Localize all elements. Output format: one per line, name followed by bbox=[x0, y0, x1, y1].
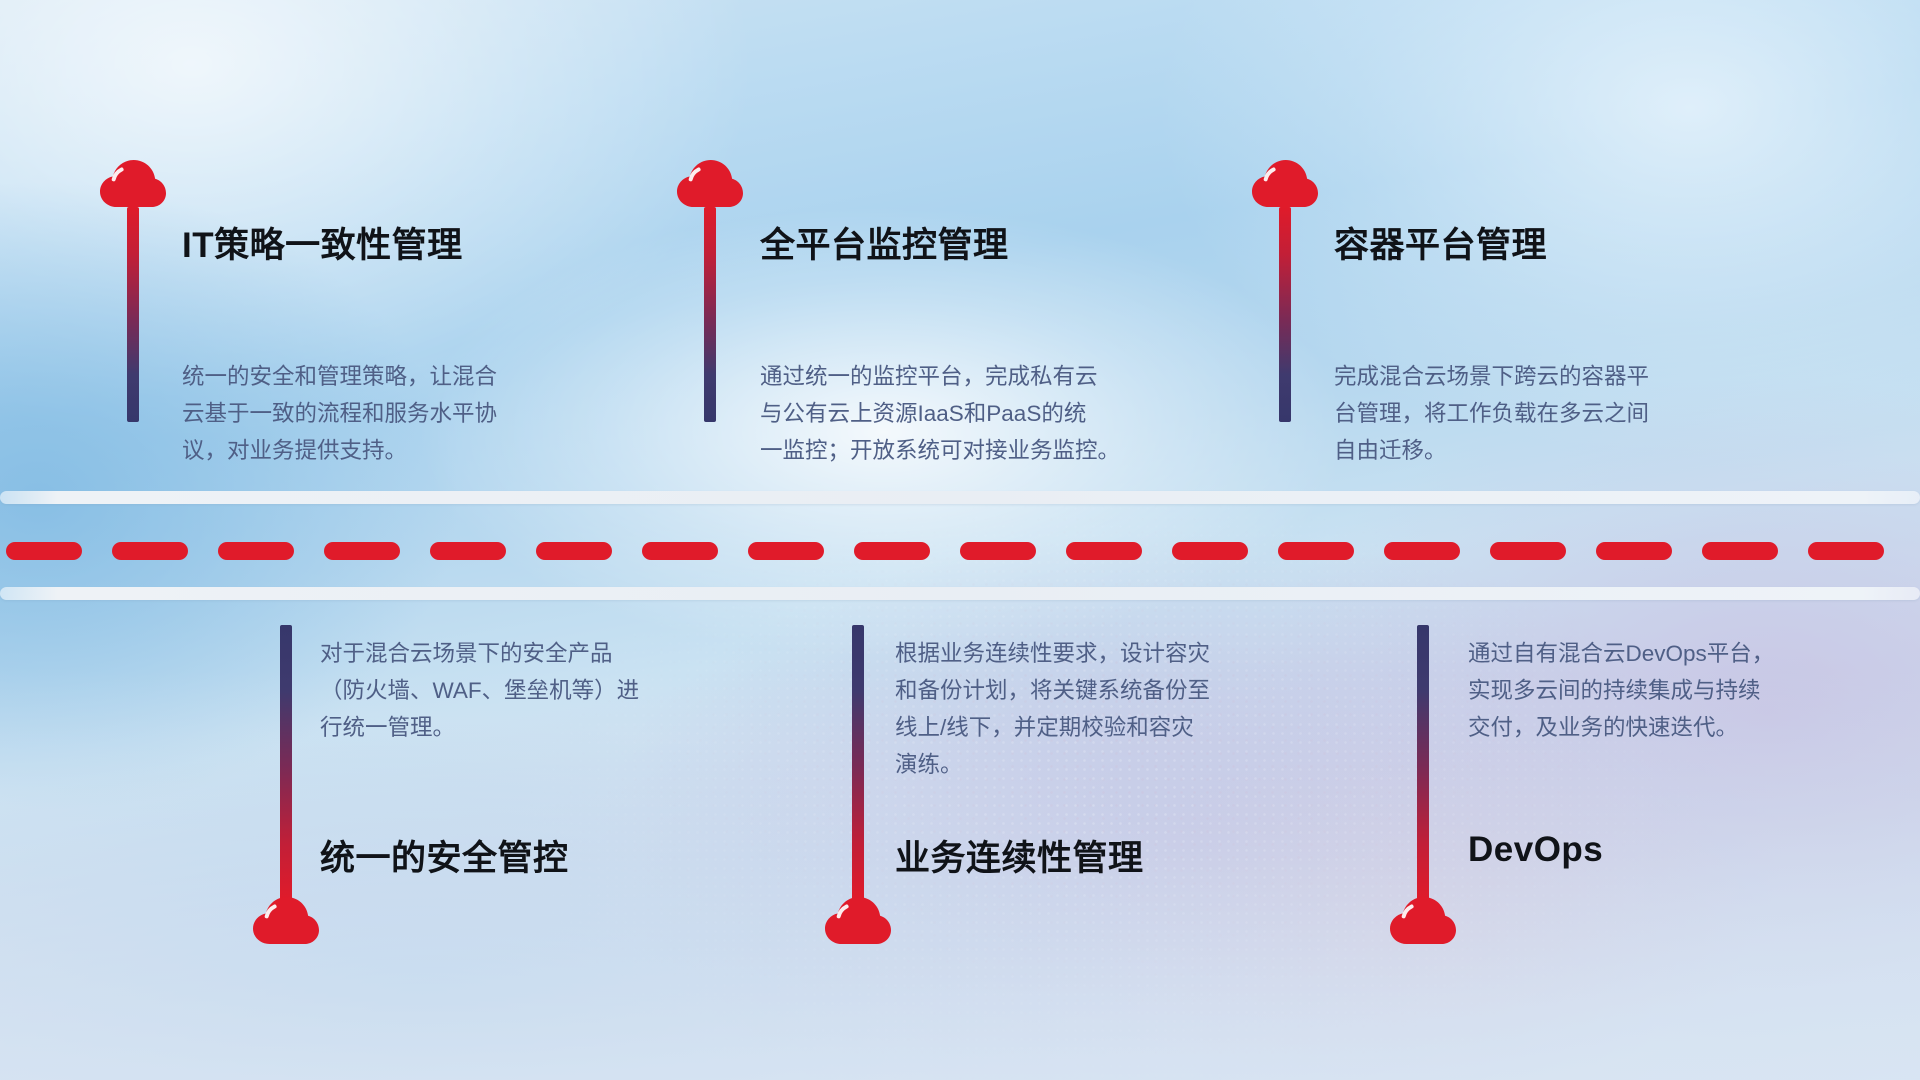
cloud-pin-icon bbox=[100, 160, 166, 210]
cloud-pin-icon bbox=[677, 160, 743, 210]
road-dash bbox=[536, 542, 612, 560]
infographic-canvas: IT策略一致性管理 统一的安全和管理策略，让混合 云基于一致的流程和服务水平协 … bbox=[0, 0, 1920, 1080]
heading-bottom-1: 统一的安全管控 bbox=[320, 830, 569, 881]
body-bottom-1: 对于混合云场景下的安全产品 （防火墙、WAF、堡垒机等）进 行统一管理。 bbox=[320, 635, 770, 746]
body-top-1: 统一的安全和管理策略，让混合 云基于一致的流程和服务水平协 议，对业务提供支持。 bbox=[182, 358, 622, 469]
heading-top-3: 容器平台管理 bbox=[1334, 217, 1547, 268]
heading-bottom-2: 业务连续性管理 bbox=[895, 830, 1144, 881]
road-dash bbox=[642, 542, 718, 560]
road-dash bbox=[854, 542, 930, 560]
pin-stem-top-1 bbox=[127, 207, 139, 422]
body-top-2: 通过统一的监控平台，完成私有云 与公有云上资源IaaS和PaaS的统 一监控；开… bbox=[760, 358, 1230, 469]
road-dash bbox=[1490, 542, 1566, 560]
body-bottom-3: 通过自有混合云DevOps平台， 实现多云间的持续集成与持续 交付，及业务的快速… bbox=[1468, 635, 1898, 746]
road-dash bbox=[960, 542, 1036, 560]
pin-stem-top-2 bbox=[704, 207, 716, 422]
pin-stem-top-3 bbox=[1279, 207, 1291, 422]
road-dash bbox=[6, 542, 82, 560]
cloud-pin-icon bbox=[1390, 897, 1456, 947]
road-dash bbox=[1596, 542, 1672, 560]
pin-stem-bottom-3 bbox=[1417, 625, 1429, 900]
road-dash bbox=[1384, 542, 1460, 560]
road-dash bbox=[324, 542, 400, 560]
body-top-3: 完成混合云场景下跨云的容器平 台管理，将工作负载在多云之间 自由迁移。 bbox=[1334, 358, 1774, 469]
divider-rail-bottom bbox=[0, 587, 1920, 600]
road-dash bbox=[1702, 542, 1778, 560]
cloud-pin-icon bbox=[253, 897, 319, 947]
road-dash bbox=[1808, 542, 1884, 560]
heading-top-2: 全平台监控管理 bbox=[760, 217, 1009, 268]
pin-stem-bottom-1 bbox=[280, 625, 292, 900]
cloud-pin-icon bbox=[825, 897, 891, 947]
cloud-pin-icon bbox=[1252, 160, 1318, 210]
road-dash bbox=[430, 542, 506, 560]
road-dash bbox=[748, 542, 824, 560]
body-bottom-2: 根据业务连续性要求，设计容灾 和备份计划，将关键系统备份至 线上/线下，并定期校… bbox=[895, 635, 1350, 783]
divider-dashed-line bbox=[0, 542, 1920, 560]
road-dash bbox=[1172, 542, 1248, 560]
road-dash bbox=[1066, 542, 1142, 560]
divider-rail-top bbox=[0, 491, 1920, 504]
heading-top-1: IT策略一致性管理 bbox=[182, 217, 463, 268]
road-dash bbox=[1278, 542, 1354, 560]
road-dash bbox=[218, 542, 294, 560]
pin-stem-bottom-2 bbox=[852, 625, 864, 900]
road-dash bbox=[112, 542, 188, 560]
heading-bottom-3: DevOps bbox=[1468, 830, 1603, 870]
